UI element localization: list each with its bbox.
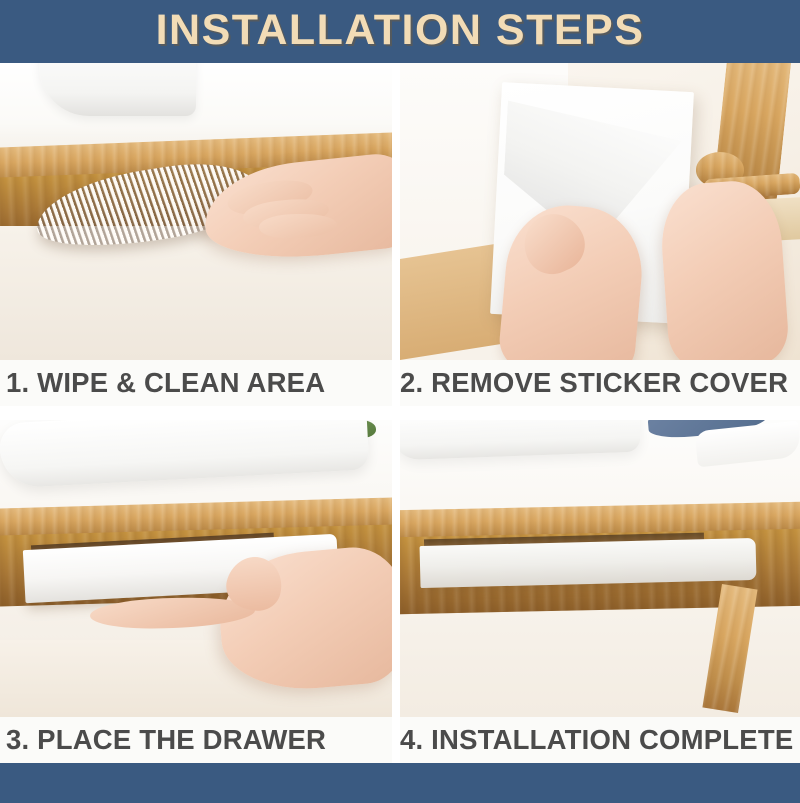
- photo-installation-complete: [400, 420, 800, 717]
- step-panel-4: 4. INSTALLATION COMPLETE: [400, 420, 800, 763]
- photo-remove-sticker-cover: [400, 63, 800, 360]
- photo-wipe-clean-area: [0, 63, 392, 360]
- step-2-caption-text: 2. REMOVE STICKER COVER: [400, 369, 788, 397]
- page-title: INSTALLATION STEPS: [156, 9, 645, 54]
- step-panel-1: 1. WIPE & CLEAN AREA: [0, 63, 392, 418]
- step-3-caption-text: 3. PLACE THE DRAWER: [6, 726, 326, 754]
- step-4-caption-text: 4. INSTALLATION COMPLETE: [400, 726, 793, 754]
- step-3-photo: [0, 420, 392, 717]
- step-panel-3: 3. PLACE THE DRAWER: [0, 420, 392, 763]
- installed-white-drawer: [420, 538, 757, 588]
- step-4-caption-band: 4. INSTALLATION COMPLETE: [400, 717, 800, 763]
- step-1-photo: [0, 63, 392, 360]
- header-bar: INSTALLATION STEPS: [0, 0, 800, 63]
- steps-grid: 1. WIPE & CLEAN AREA: [0, 63, 800, 763]
- installation-steps-infographic: INSTALLATION STEPS 1.: [0, 0, 800, 803]
- step-1-caption-text: 1. WIPE & CLEAN AREA: [6, 369, 325, 397]
- footer-bar: [0, 763, 800, 803]
- step-3-caption-band: 3. PLACE THE DRAWER: [0, 717, 392, 763]
- step-panel-2: 2. REMOVE STICKER COVER: [400, 63, 800, 418]
- lamp-shade: [0, 420, 370, 489]
- step-2-caption-band: 2. REMOVE STICKER COVER: [400, 360, 800, 406]
- step-2-photo: [400, 63, 800, 360]
- step-4-photo: [400, 420, 800, 717]
- photo-place-the-drawer: [0, 420, 392, 717]
- lamp-shade: [400, 420, 641, 460]
- step-1-caption-band: 1. WIPE & CLEAN AREA: [0, 360, 392, 406]
- lamp-shade: [39, 63, 196, 116]
